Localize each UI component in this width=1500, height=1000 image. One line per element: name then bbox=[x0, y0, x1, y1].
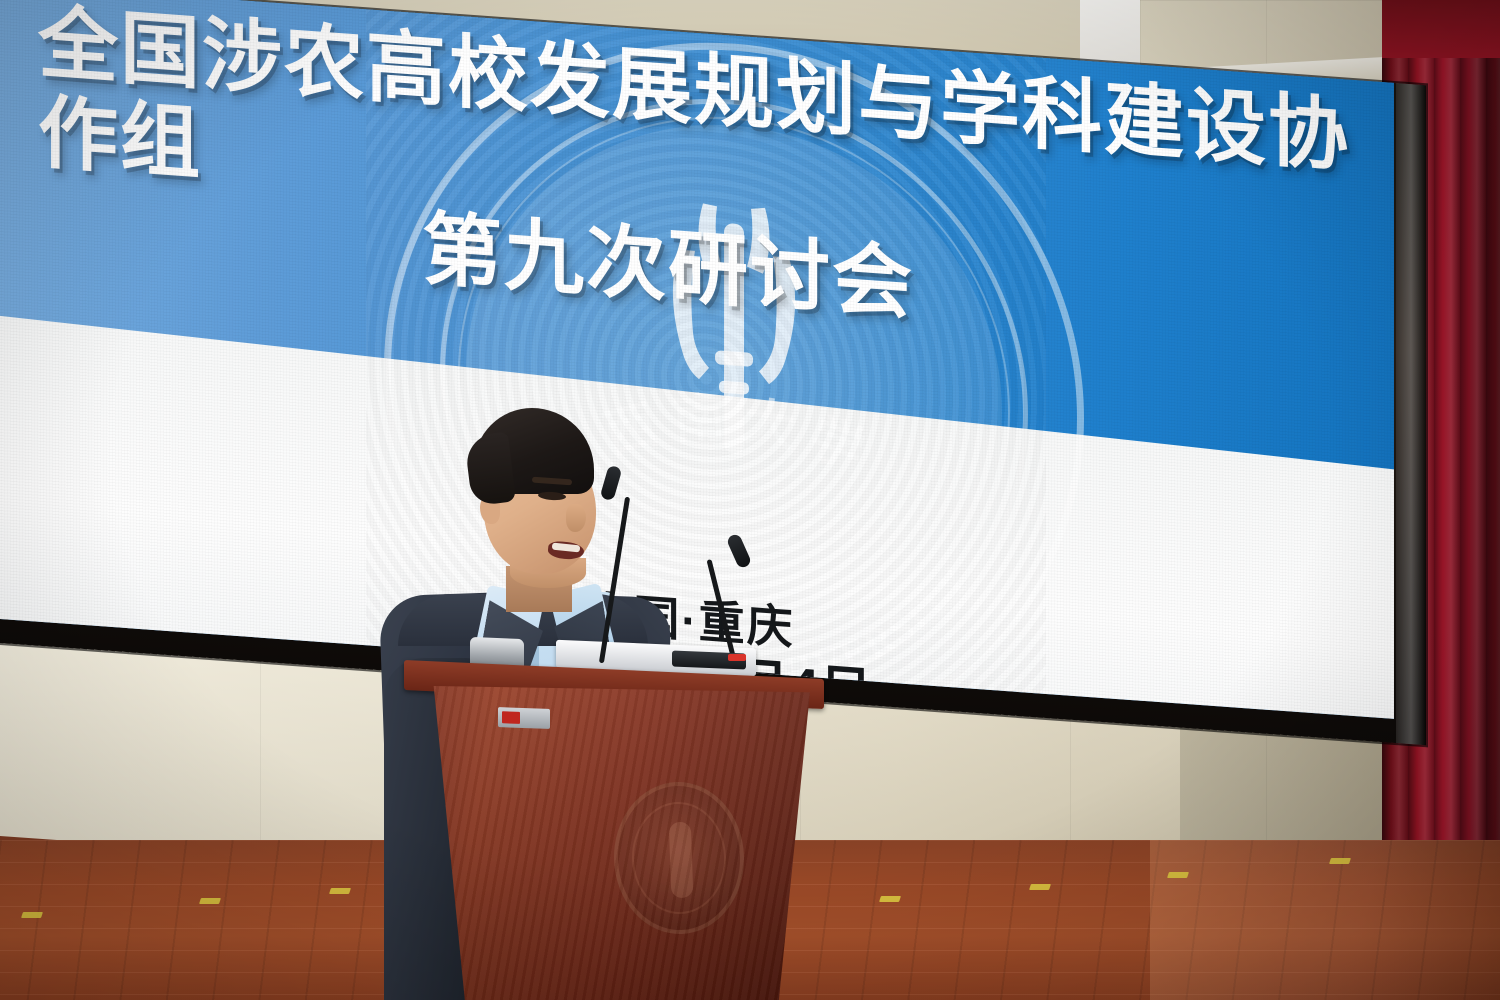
floor-tape-marker bbox=[199, 898, 221, 904]
floor-tape-marker bbox=[21, 912, 43, 918]
lectern-front-panel bbox=[418, 686, 810, 1000]
speaker-sideburn bbox=[464, 432, 516, 507]
microphone-capsule bbox=[600, 465, 623, 502]
floor-tape-marker bbox=[329, 888, 351, 894]
conference-hall-photo: 119 消防栓 bbox=[0, 0, 1500, 1000]
bezel-highlight bbox=[1396, 83, 1426, 745]
floor-tape-marker bbox=[879, 896, 901, 902]
lectern-brand-plate bbox=[498, 707, 550, 729]
floor-tape-marker bbox=[1029, 884, 1051, 890]
curtain-valance bbox=[1382, 0, 1500, 58]
lectern-seal-emblem bbox=[611, 780, 746, 936]
floor-tape-marker bbox=[1329, 858, 1351, 864]
lectern bbox=[404, 660, 824, 1000]
floor-tape-marker bbox=[1167, 872, 1189, 878]
microphone-gooseneck bbox=[599, 497, 630, 664]
floor-reflection bbox=[1150, 840, 1500, 1000]
microphone-left bbox=[586, 452, 646, 662]
microphone-status-led bbox=[728, 654, 746, 661]
